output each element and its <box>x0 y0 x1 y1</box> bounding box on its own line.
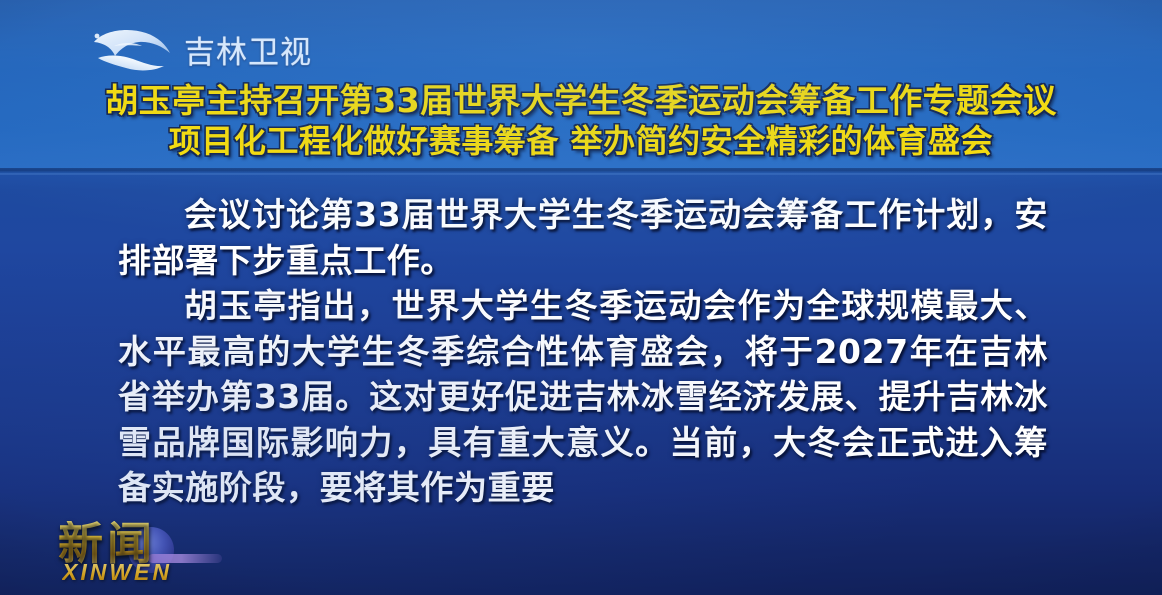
program-bug: 新闻 XINWEN <box>52 521 220 587</box>
band-divider-highlight <box>0 173 1162 175</box>
program-bug-name-en: XINWEN <box>62 559 172 586</box>
body-copy: 会议讨论第33届世界大学生冬季运动会筹备工作计划，安排部署下步重点工作。 胡玉亭… <box>118 192 1048 511</box>
headline-line-1: 胡玉亭主持召开第33届世界大学生冬季运动会筹备工作专题会议 <box>0 80 1162 121</box>
body-paragraph: 胡玉亭指出，世界大学生冬季运动会作为全球规模最大、水平最高的大学生冬季综合性体育… <box>118 283 1048 511</box>
channel-name: 吉林卫视 <box>184 27 312 72</box>
headline-line-2: 项目化工程化做好赛事筹备 举办简约安全精彩的体育盛会 <box>0 121 1162 162</box>
jilin-tv-swoosh-icon <box>84 24 176 74</box>
body-paragraph: 会议讨论第33届世界大学生冬季运动会筹备工作计划，安排部署下步重点工作。 <box>118 192 1048 283</box>
headline-block: 胡玉亭主持召开第33届世界大学生冬季运动会筹备工作专题会议 项目化工程化做好赛事… <box>0 80 1162 162</box>
channel-logo: 吉林卫视 <box>84 22 312 76</box>
broadcast-screen: 吉林卫视 胡玉亭主持召开第33届世界大学生冬季运动会筹备工作专题会议 项目化工程… <box>0 0 1162 595</box>
